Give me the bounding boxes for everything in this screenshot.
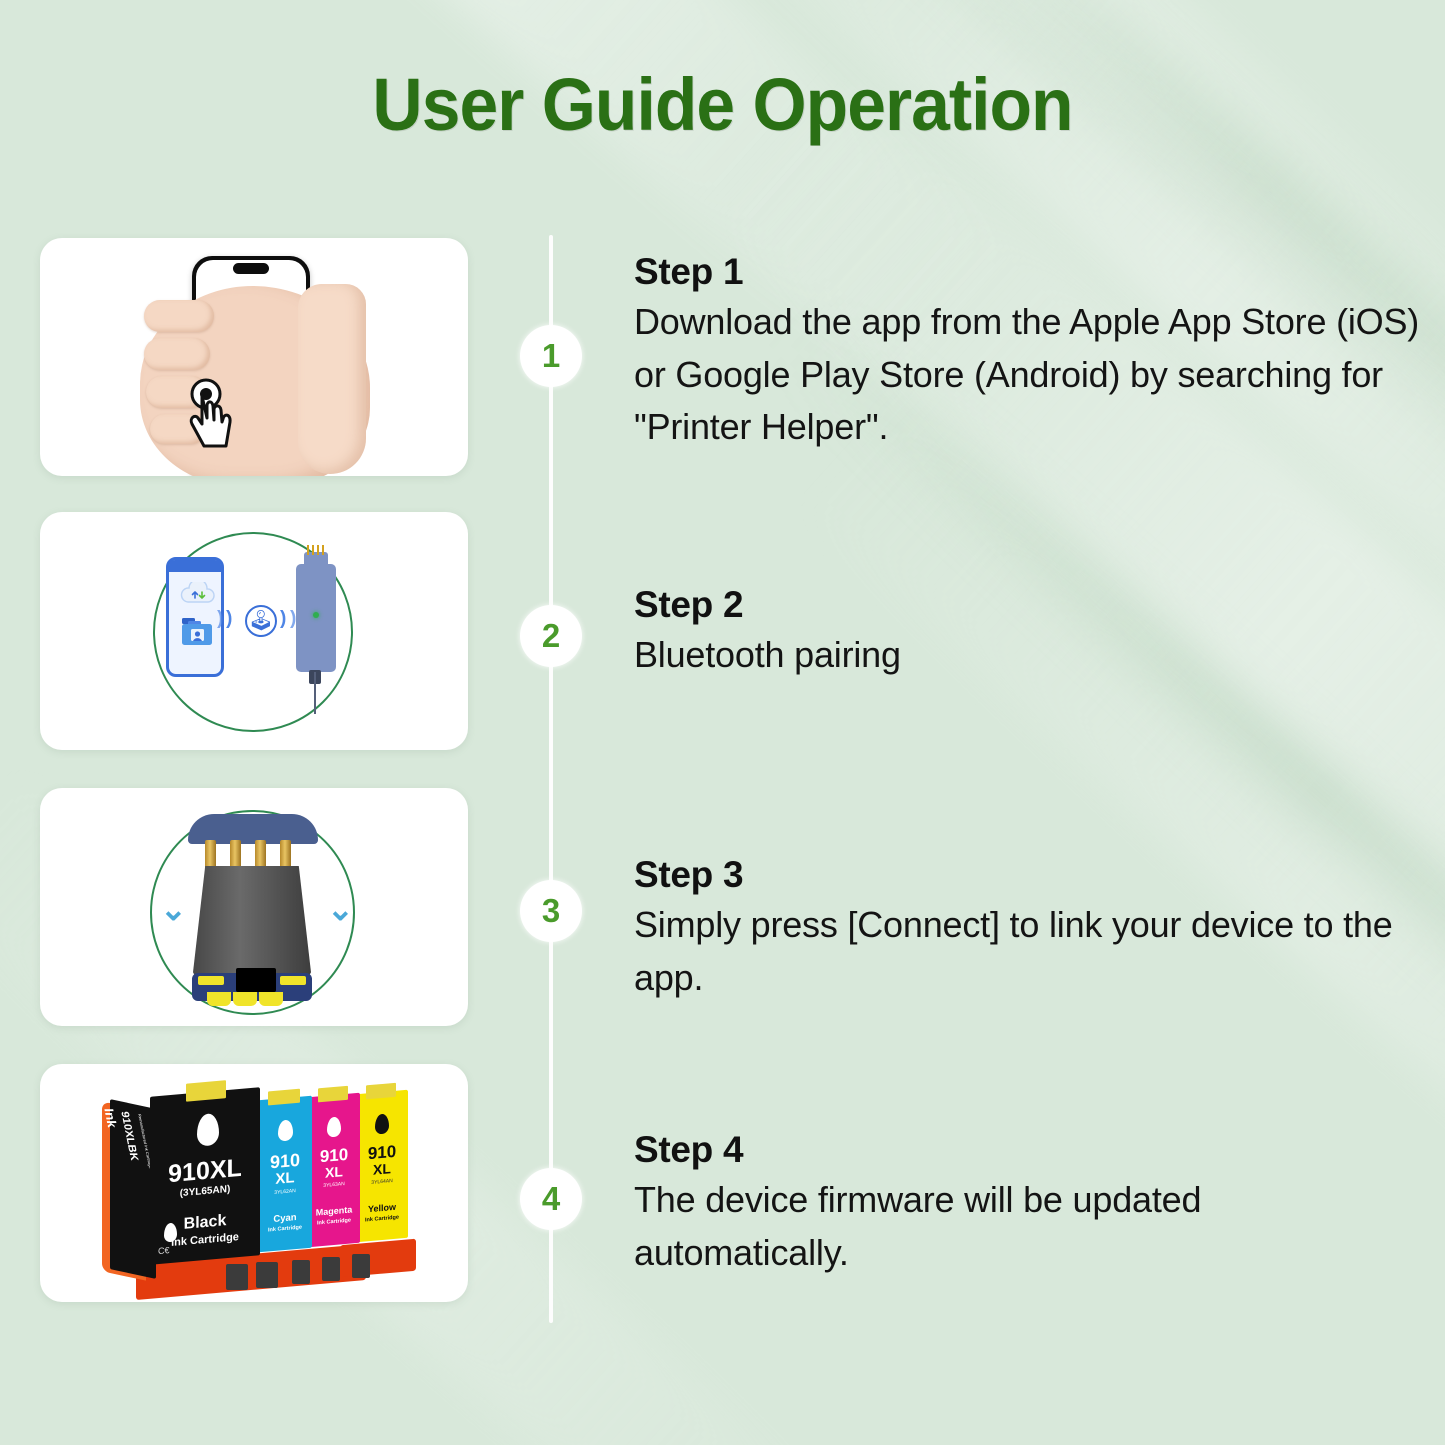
- ink-cartridges-illustration: 910 XL 3YL64AN Yellow Ink Cartridge 910 …: [40, 1064, 468, 1302]
- yellow-contact-pad: [259, 992, 283, 1006]
- step-2-image-card: ( ( 🕹 ) ): [40, 512, 468, 750]
- cartridge-magenta: 910 XL 3YL63AN Magenta Ink Cartridge: [308, 1093, 360, 1248]
- timeline-connector-line: [549, 235, 553, 1323]
- signal-wave-icon: ): [280, 608, 286, 630]
- dongle-pin: [322, 545, 324, 555]
- gold-chip-tag: [366, 1083, 396, 1100]
- cartridge-cyan: 910 XL 3YL62AN Cyan Ink Cartridge: [258, 1096, 312, 1253]
- dongle-led-indicator: [313, 612, 319, 618]
- step-badge-1: 1: [520, 325, 582, 387]
- bluetooth-icon: 🕹: [245, 605, 277, 637]
- bluetooth-dongle-device: [296, 564, 336, 672]
- phone-status-bar: [169, 560, 221, 572]
- yellow-contact-pad: [233, 992, 257, 1006]
- chevron-down-icon: ⌄: [160, 900, 187, 919]
- step-badge-4: 4: [520, 1168, 582, 1230]
- chip-reader-illustration: ⌄ ⌄: [40, 788, 468, 1026]
- gold-pin: [230, 840, 241, 868]
- cartridge-model-xl: XL: [258, 1169, 312, 1190]
- ink-drop-small-icon: [164, 1222, 177, 1242]
- step-badge-3: 3: [520, 880, 582, 942]
- chip-black-block: [236, 968, 276, 992]
- gold-chip-tag: [268, 1089, 300, 1106]
- signal-wave-icon: (: [226, 608, 232, 630]
- clip-body: [192, 866, 312, 981]
- chevron-down-icon: ⌄: [327, 900, 354, 919]
- step-badge-number: 2: [542, 617, 560, 655]
- phone-device: [166, 557, 224, 677]
- step-body: Simply press [Connect] to link your devi…: [634, 899, 1424, 1005]
- gold-pin: [255, 840, 266, 868]
- ink-drop-icon: [197, 1113, 219, 1147]
- cartridge-foot: [256, 1262, 278, 1288]
- step-3-image-card: ⌄ ⌄: [40, 788, 468, 1026]
- hand-finger: [144, 300, 214, 332]
- cartridge-side-model: 910XLBK: [118, 1111, 140, 1160]
- cartridge-foot: [352, 1254, 370, 1278]
- dongle-pin: [317, 545, 319, 555]
- gold-pin: [280, 840, 291, 868]
- step-body: The device firmware will be updated auto…: [634, 1174, 1424, 1280]
- gold-chip-tag: [318, 1086, 348, 1103]
- hand-thumb: [298, 284, 366, 474]
- step-2-text: Step 2 Bluetooth pairing: [634, 583, 1424, 682]
- yellow-contact-pad: [280, 976, 306, 985]
- cartridge-model-xl: XL: [356, 1160, 408, 1180]
- step-4-image-card: 910 XL 3YL64AN Yellow Ink Cartridge 910 …: [40, 1064, 468, 1302]
- bluetooth-pairing-illustration: ( ( 🕹 ) ): [40, 512, 468, 750]
- cartridge-model-xl: XL: [308, 1163, 360, 1183]
- ink-drop-icon: [375, 1113, 389, 1134]
- step-badge-2: 2: [520, 605, 582, 667]
- step-title: Step 4: [634, 1128, 1424, 1172]
- step-3-text: Step 3 Simply press [Connect] to link yo…: [634, 853, 1424, 1004]
- yellow-contact-pad: [207, 992, 231, 1006]
- dongle-pin: [312, 545, 314, 555]
- step-title: Step 2: [634, 583, 1424, 627]
- signal-wave-icon: (: [217, 608, 223, 630]
- step-body: Download the app from the Apple App Stor…: [634, 296, 1424, 455]
- step-title: Step 3: [634, 853, 1424, 897]
- ce-mark-icon: C€: [158, 1245, 170, 1256]
- cartridge-black: 910XL (3YL65AN) Black Ink Cartridge C€: [150, 1087, 260, 1265]
- cartridge-foot: [292, 1260, 310, 1284]
- step-badge-number: 1: [542, 337, 560, 375]
- step-badge-number: 3: [542, 892, 560, 930]
- ink-drop-icon: [278, 1119, 293, 1141]
- page-title: User Guide Operation: [43, 62, 1401, 147]
- gold-pin-group: [203, 840, 303, 870]
- ink-drop-icon: [327, 1116, 341, 1137]
- step-title: Step 1: [634, 250, 1424, 294]
- gold-chip-tag: [186, 1080, 226, 1101]
- dongle-pin: [307, 545, 309, 555]
- cartridge-code: 3YL62AN: [258, 1188, 312, 1198]
- cartridge-code: 3YL64AN: [356, 1178, 408, 1188]
- cartridge-foot: [226, 1264, 248, 1290]
- step-1-text: Step 1 Download the app from the Apple A…: [634, 250, 1424, 454]
- cartridge-foot: [322, 1257, 340, 1281]
- cartridge-side-brand: Ink: [101, 1108, 120, 1127]
- cartridge-yellow: 910 XL 3YL64AN Yellow Ink Cartridge: [356, 1090, 408, 1243]
- step-1-image-card: CHIPSTAR ink Cartridge: [40, 238, 468, 476]
- step-badge-number: 4: [542, 1180, 560, 1218]
- step-body: Bluetooth pairing: [634, 629, 1424, 682]
- hand-finger: [144, 338, 210, 370]
- cable: [314, 672, 316, 714]
- document-folder-icon: [180, 615, 216, 647]
- hand-holding-phone-illustration: CHIPSTAR ink Cartridge: [40, 238, 468, 476]
- step-4-text: Step 4 The device firmware will be updat…: [634, 1128, 1424, 1279]
- tap-cursor-icon: [186, 378, 244, 450]
- gold-pin: [205, 840, 216, 868]
- cartridge-code: 3YL63AN: [308, 1181, 360, 1191]
- yellow-contact-pad: [198, 976, 224, 985]
- cloud-upload-icon: [179, 582, 217, 606]
- phone-notch: [233, 263, 269, 274]
